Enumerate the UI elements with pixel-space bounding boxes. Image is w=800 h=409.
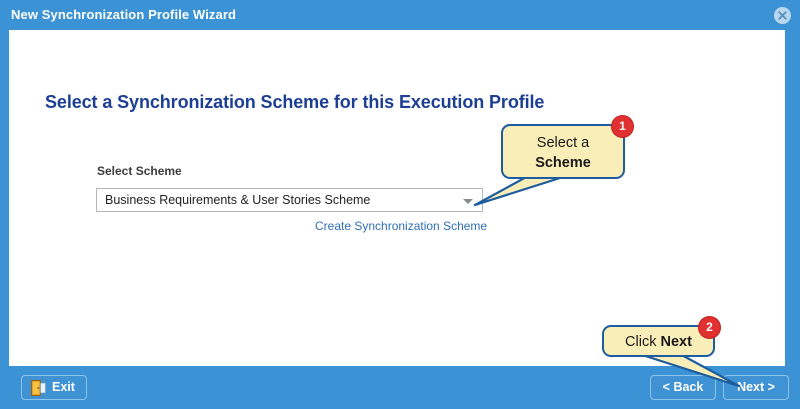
back-button-label: < Back [663,380,704,394]
wizard-window: New Synchronization Profile Wizard Selec… [0,0,800,409]
footer-bar: Exit < Back Next > [0,366,800,409]
select-scheme-label: Select Scheme [97,164,182,178]
next-button-label: Next > [737,380,775,394]
door-exit-icon [31,380,46,396]
create-synchronization-scheme-link[interactable]: Create Synchronization Scheme [315,219,485,233]
callout-1-line2: Scheme [535,155,591,171]
exit-button[interactable]: Exit [21,375,87,400]
scheme-select[interactable]: Business Requirements & User Stories Sch… [96,188,483,212]
content-panel: Select a Synchronization Scheme for this… [9,30,785,366]
next-button[interactable]: Next > [723,375,789,400]
callout-2-line2: Next [661,334,692,350]
close-icon[interactable] [774,7,791,24]
callout-badge-1: 1 [611,115,634,138]
callout-2-line1: Click [625,334,660,350]
back-button[interactable]: < Back [650,375,716,400]
title-bar: New Synchronization Profile Wizard [0,0,800,30]
exit-button-label: Exit [52,380,75,394]
callout-badge-2: 2 [698,316,721,339]
callout-bubble-1: Select a Scheme [501,124,625,179]
page-title: Select a Synchronization Scheme for this… [45,92,544,113]
chevron-down-icon [463,199,473,204]
callout-1-line1: Select a [537,135,589,151]
scheme-select-value: Business Requirements & User Stories Sch… [105,193,370,207]
window-title: New Synchronization Profile Wizard [11,7,236,22]
